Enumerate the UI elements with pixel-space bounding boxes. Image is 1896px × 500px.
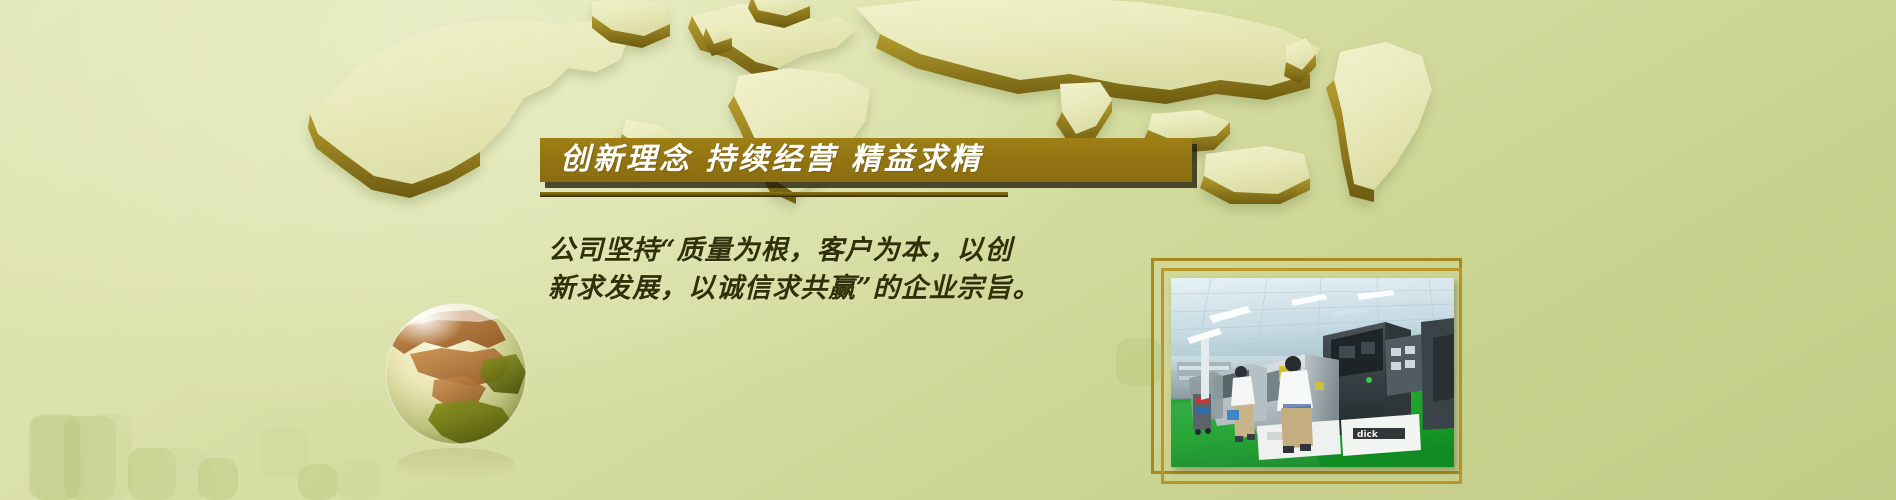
decorative-square-9 <box>336 458 380 500</box>
company-hero-banner: 创新理念 持续经营 精益求精 公司坚持“质量为根，客户为本，以创 新求发展，以诚… <box>0 0 1896 500</box>
motto-line-1: 公司坚持“质量为根，客户为本，以创 <box>548 232 1168 270</box>
headline-underline-rule <box>540 192 1008 197</box>
motto-line-2: 新求发展，以诚信求共赢”的企业宗旨。 <box>548 270 1168 308</box>
decorative-square-3 <box>86 414 132 500</box>
headline-slogan-text: 创新理念 持续经营 精益求精 <box>540 145 983 175</box>
factory-floor-photo: dick <box>1171 278 1454 467</box>
decorative-square-8 <box>298 464 338 500</box>
globe-3d-graphic <box>376 296 552 486</box>
headline-band-background: 创新理念 持续经营 精益求精 <box>540 138 1192 182</box>
svg-text:dick: dick <box>1357 430 1379 440</box>
headline-slogan-band: 创新理念 持续经营 精益求精 <box>540 138 1192 182</box>
factory-photo-frame: dick <box>1151 258 1462 474</box>
company-motto-paragraph: 公司坚持“质量为根，客户为本，以创 新求发展，以诚信求共赢”的企业宗旨。 <box>548 232 1168 308</box>
decorative-square-6 <box>198 458 238 500</box>
